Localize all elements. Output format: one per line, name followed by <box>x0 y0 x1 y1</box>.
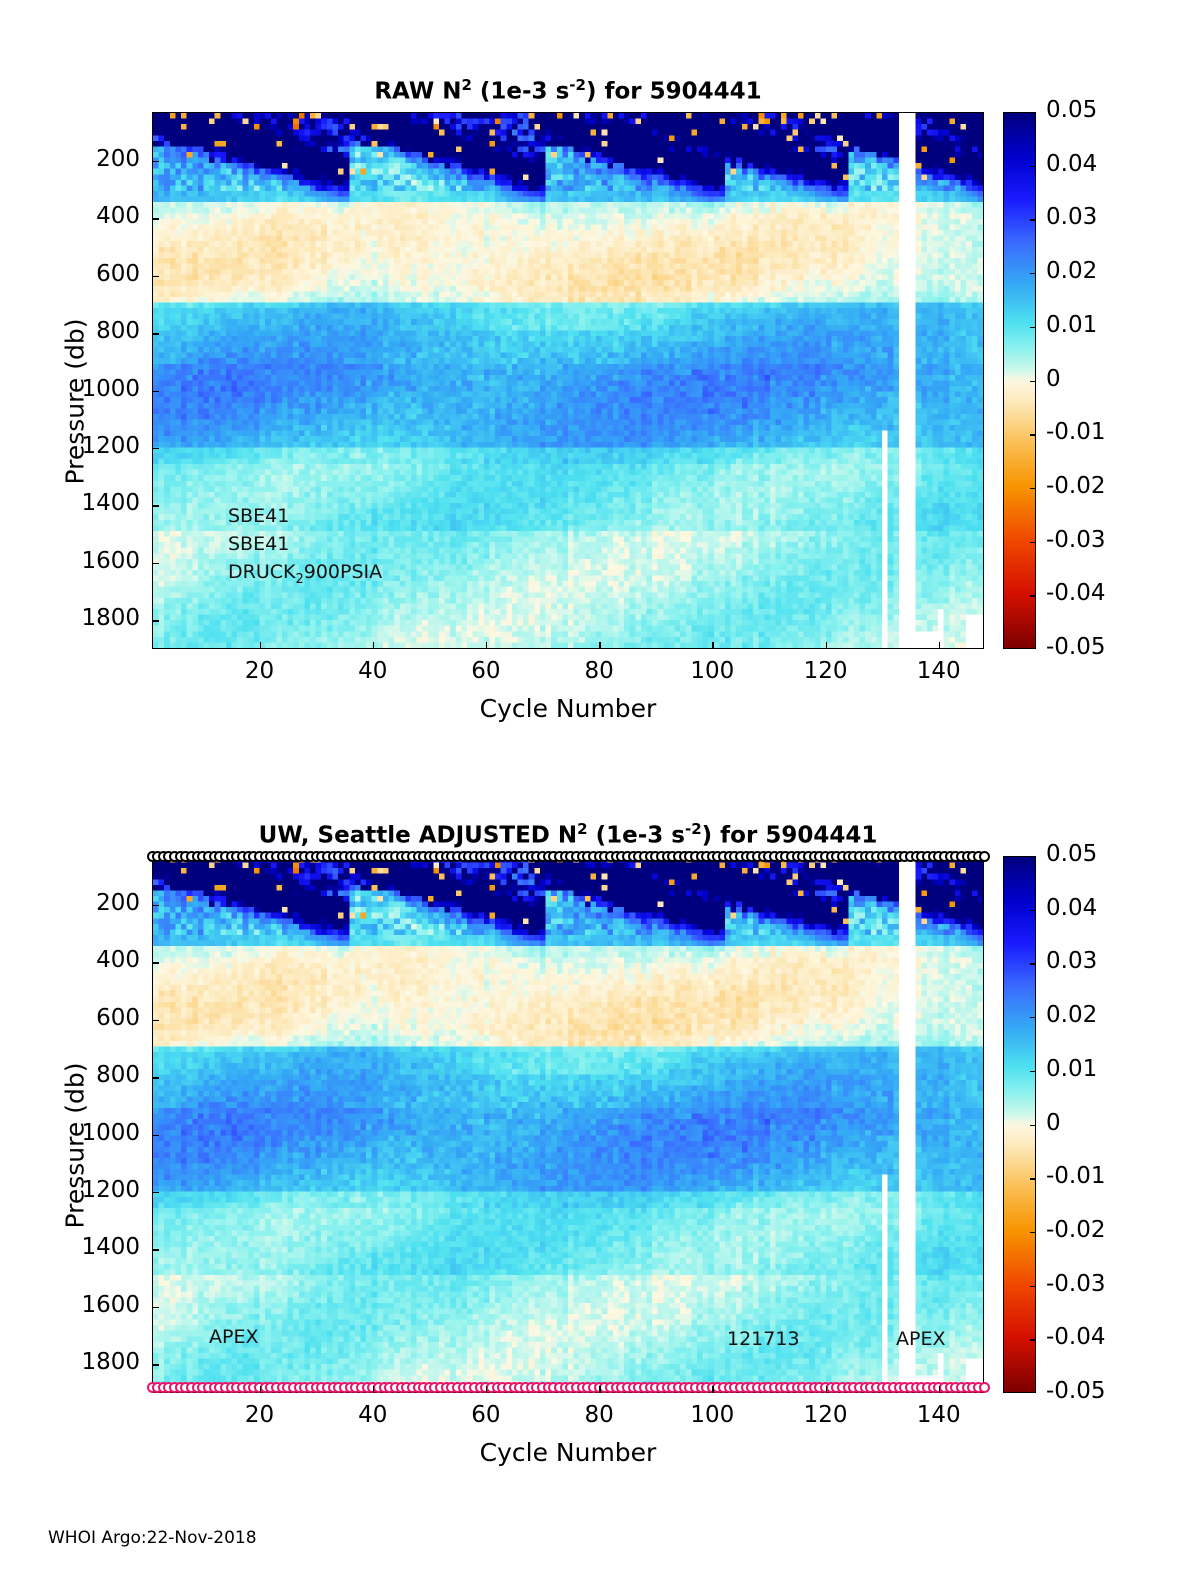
x-tick-40: 40 <box>328 1402 418 1428</box>
y-tick-1800: 1800 <box>44 1349 140 1375</box>
colorbar-tickmark <box>1030 166 1036 167</box>
raw-title-sup1: 2 <box>461 76 471 94</box>
adjusted-x-axis-label: Cycle Number <box>368 1438 768 1467</box>
colorbar-tickmark <box>1030 219 1036 220</box>
colorbar-tick-neg0p02: -0.02 <box>1046 473 1106 499</box>
x-tickmark-20 <box>260 642 261 649</box>
x-tickmark-40 <box>373 1386 374 1393</box>
adjusted-title-mid: (1e-3 s <box>588 823 685 849</box>
colorbar-tickmark <box>1030 1178 1036 1179</box>
colorbar-tickmark <box>1030 910 1036 911</box>
colorbar-tickmark <box>1030 1071 1036 1072</box>
adjusted-heatmap-axes <box>152 856 984 1393</box>
x-tickmark-60 <box>486 642 487 649</box>
x-tick-20: 20 <box>215 1402 305 1428</box>
cycle-marker[interactable] <box>979 1382 990 1393</box>
y-tick-1200: 1200 <box>44 1177 140 1203</box>
adjusted-plot-title: UW, Seattle ADJUSTED N2 (1e-3 s-2) for 5… <box>152 820 984 849</box>
y-tickmark-800 <box>152 1077 159 1078</box>
adjusted-title-post: ) for 5904441 <box>702 823 878 849</box>
y-tick-1600: 1600 <box>44 1292 140 1318</box>
x-tickmark-60 <box>486 1386 487 1393</box>
colorbar-tick-0p01: 0.01 <box>1046 1056 1097 1082</box>
colorbar-tick-0p04: 0.04 <box>1046 895 1097 921</box>
y-tick-600: 600 <box>44 1005 140 1031</box>
y-tickmark-1000 <box>152 1135 159 1136</box>
y-tickmark-200 <box>152 905 159 906</box>
x-tick-60: 60 <box>441 658 531 684</box>
x-tick-120: 120 <box>781 658 871 684</box>
x-tickmark-80 <box>599 1386 600 1393</box>
y-tickmark-600 <box>152 276 159 277</box>
colorbar-tick-0: 0 <box>1046 1110 1061 1136</box>
x-tick-60: 60 <box>441 1402 531 1428</box>
y-tick-1000: 1000 <box>44 1120 140 1146</box>
x-tick-80: 80 <box>554 1402 644 1428</box>
pressure-sensor-sub: 2 <box>295 572 303 587</box>
raw-x-axis-label: Cycle Number <box>368 694 768 723</box>
raw-title-pre: RAW N <box>374 79 461 105</box>
colorbar-tick-neg0p01: -0.01 <box>1046 419 1106 445</box>
colorbar-tick-0p05: 0.05 <box>1046 841 1097 867</box>
colorbar-tickmark <box>1030 381 1036 382</box>
y-tick-400: 400 <box>44 203 140 229</box>
adjusted-heatmap-image <box>153 857 983 1392</box>
float-type-right: APEX <box>896 1328 945 1350</box>
raw-title-mid: (1e-3 s <box>472 79 569 105</box>
y-tickmark-400 <box>152 962 159 963</box>
colorbar-tick-neg0p05: -0.05 <box>1046 634 1106 660</box>
float-type-left: APEX <box>209 1326 258 1348</box>
x-tickmark-80 <box>599 642 600 649</box>
x-tickmark-120 <box>826 642 827 649</box>
colorbar-tick-0p02: 0.02 <box>1046 258 1097 284</box>
y-tickmark-600 <box>152 1020 159 1021</box>
x-tick-20: 20 <box>215 658 305 684</box>
colorbar-tickmark <box>1030 963 1036 964</box>
colorbar-tick-neg0p04: -0.04 <box>1046 1324 1106 1350</box>
colorbar-tick-0: 0 <box>1046 366 1061 392</box>
x-tickmark-120 <box>826 1386 827 1393</box>
y-tickmark-1600 <box>152 563 159 564</box>
x-tick-40: 40 <box>328 658 418 684</box>
x-tickmark-40 <box>373 642 374 649</box>
x-tick-140: 140 <box>894 658 984 684</box>
y-tickmark-1800 <box>152 1364 159 1365</box>
float-serial: 121713 <box>727 1328 800 1350</box>
bottom-cycle-markers[interactable] <box>152 1382 984 1397</box>
x-tick-140: 140 <box>894 1402 984 1428</box>
colorbar-tick-0p03: 0.03 <box>1046 948 1097 974</box>
colorbar-tick-neg0p03: -0.03 <box>1046 527 1106 553</box>
x-tickmark-140 <box>939 1386 940 1393</box>
adjusted-title-sup2: -2 <box>685 820 702 838</box>
sensor-model-2: SBE41 <box>228 533 289 555</box>
y-tickmark-200 <box>152 161 159 162</box>
x-tickmark-140 <box>939 642 940 649</box>
y-tick-1000: 1000 <box>44 376 140 402</box>
x-tickmark-100 <box>712 642 713 649</box>
raw-title-sup2: -2 <box>569 76 586 94</box>
sensor-model-1: SBE41 <box>228 505 289 527</box>
colorbar-tick-0p04: 0.04 <box>1046 151 1097 177</box>
pressure-sensor-pre: DRUCK <box>228 561 295 583</box>
y-tickmark-1200 <box>152 448 159 449</box>
colorbar-tick-0p05: 0.05 <box>1046 97 1097 123</box>
y-tickmark-800 <box>152 333 159 334</box>
y-tick-400: 400 <box>44 947 140 973</box>
y-tick-1800: 1800 <box>44 605 140 631</box>
colorbar-tickmark <box>1030 542 1036 543</box>
x-tickmark-20 <box>260 1386 261 1393</box>
x-tick-80: 80 <box>554 658 644 684</box>
colorbar-tickmark <box>1030 327 1036 328</box>
y-tick-200: 200 <box>44 146 140 172</box>
colorbar-tickmark <box>1030 488 1036 489</box>
colorbar-tick-neg0p03: -0.03 <box>1046 1271 1106 1297</box>
pressure-sensor-post: 900PSIA <box>304 561 382 583</box>
colorbar-tickmark <box>1030 1286 1036 1287</box>
y-tickmark-1400 <box>152 1249 159 1250</box>
colorbar-tick-0p02: 0.02 <box>1046 1002 1097 1028</box>
adjusted-title-pre: UW, Seattle ADJUSTED N <box>259 823 578 849</box>
colorbar-tick-0p01: 0.01 <box>1046 312 1097 338</box>
top-cycle-markers[interactable] <box>152 851 984 866</box>
colorbar-tick-neg0p01: -0.01 <box>1046 1163 1106 1189</box>
y-tickmark-1800 <box>152 620 159 621</box>
y-tickmark-1400 <box>152 505 159 506</box>
colorbar-tickmark <box>1030 1232 1036 1233</box>
x-tick-100: 100 <box>667 658 757 684</box>
footer-credit: WHOI Argo:22-Nov-2018 <box>48 1528 257 1548</box>
y-tick-800: 800 <box>44 318 140 344</box>
y-tick-1200: 1200 <box>44 433 140 459</box>
colorbar-tick-neg0p05: -0.05 <box>1046 1378 1106 1404</box>
y-tick-1400: 1400 <box>44 490 140 516</box>
colorbar-tickmark <box>1030 1339 1036 1340</box>
y-tickmark-1600 <box>152 1307 159 1308</box>
x-tickmark-100 <box>712 1386 713 1393</box>
colorbar-tickmark <box>1030 434 1036 435</box>
y-tick-200: 200 <box>44 890 140 916</box>
raw-title-post: ) for 5904441 <box>586 79 762 105</box>
x-tick-120: 120 <box>781 1402 871 1428</box>
y-tick-1600: 1600 <box>44 548 140 574</box>
raw-plot-title: RAW N2 (1e-3 s-2) for 5904441 <box>152 76 984 105</box>
colorbar-tickmark <box>1030 595 1036 596</box>
colorbar-tick-neg0p04: -0.04 <box>1046 580 1106 606</box>
colorbar-tickmark <box>1030 273 1036 274</box>
y-tickmark-400 <box>152 218 159 219</box>
colorbar-tick-neg0p02: -0.02 <box>1046 1217 1106 1243</box>
y-tickmark-1200 <box>152 1192 159 1193</box>
colorbar-tickmark <box>1030 1017 1036 1018</box>
y-tick-800: 800 <box>44 1062 140 1088</box>
pressure-sensor: DRUCK2900PSIA <box>228 561 382 587</box>
colorbar-tick-0p03: 0.03 <box>1046 204 1097 230</box>
cycle-marker[interactable] <box>979 851 990 862</box>
colorbar-tickmark <box>1030 1125 1036 1126</box>
adjusted-title-sup1: 2 <box>577 820 587 838</box>
x-tick-100: 100 <box>667 1402 757 1428</box>
y-tickmark-1000 <box>152 391 159 392</box>
y-tick-600: 600 <box>44 261 140 287</box>
y-tick-1400: 1400 <box>44 1234 140 1260</box>
